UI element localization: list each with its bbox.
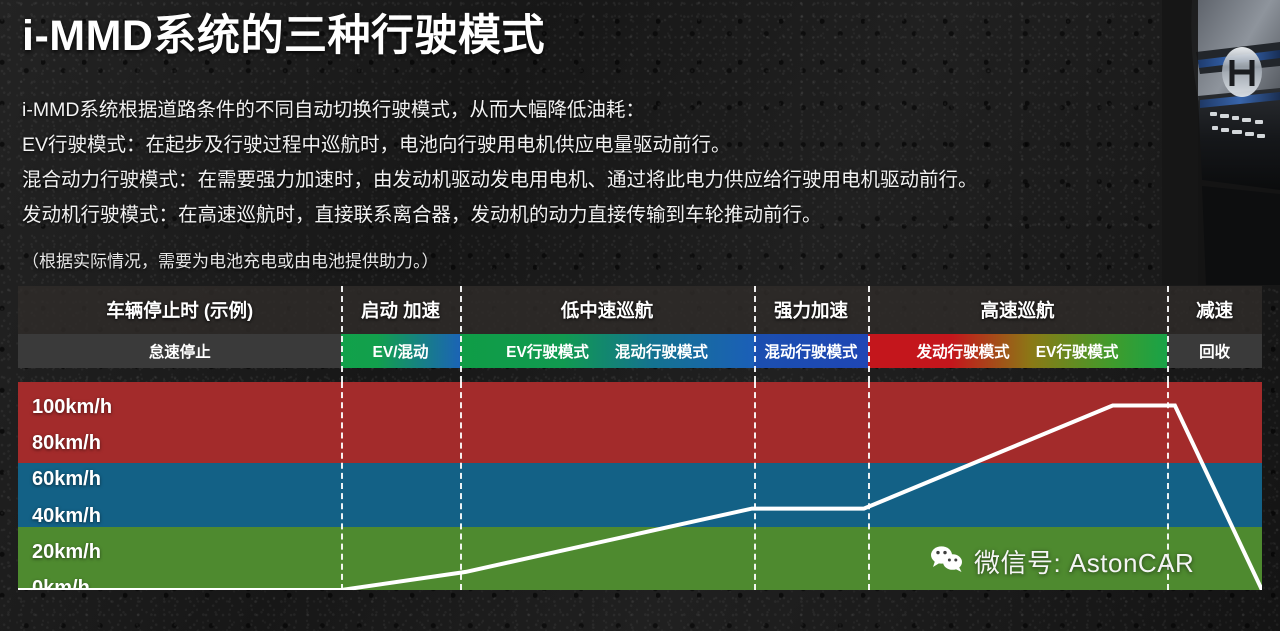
- high-speed-band: [18, 382, 1262, 463]
- mode-header-row: 怠速停止EV/混动EV行驶模式混动行驶模式混动行驶模式发动行驶模式EV行驶模式回…: [18, 334, 1262, 368]
- mode-cell-ev-and-hybrid-cruise: EV行驶模式混动行驶模式: [460, 334, 755, 368]
- plot-divider-0: [341, 382, 343, 590]
- intro-line-ev-mode: EV行驶模式：在起步及行驶过程中巡航时，电池向行驶用电机供应电量驱动前行。: [22, 128, 1172, 163]
- header-divider-2: [754, 286, 756, 382]
- phase-label: 高速巡航: [981, 297, 1055, 323]
- phase-cell-low-mid-cruise: 低中速巡航: [460, 286, 755, 334]
- phase-label: 低中速巡航: [561, 297, 654, 323]
- phase-cell-strong-accelerate: 强力加速: [754, 286, 867, 334]
- page-title: i-MMD系统的三种行驶模式: [22, 12, 545, 61]
- mode-label: 混动行驶模式: [765, 340, 858, 362]
- phase-cell-start-accelerate: 启动 加速: [341, 286, 459, 334]
- phase-header-row: 车辆停止时 (示例)启动 加速低中速巡航强力加速高速巡航减速: [18, 286, 1262, 334]
- intro-paragraphs: i-MMD系统根据道路条件的不同自动切换行驶模式，从而大幅降低油耗： EV行驶模…: [22, 93, 1172, 233]
- plot-divider-2: [754, 382, 756, 590]
- honda-accord-grille-illustration: [1162, 0, 1280, 285]
- header-divider-3: [868, 286, 870, 382]
- watermark-text: 微信号: AstonCAR: [974, 543, 1194, 580]
- wechat-icon-glyph: [930, 545, 964, 573]
- header-divider-0: [341, 286, 343, 382]
- y-tick-0: 0km/h: [32, 577, 90, 590]
- header-divider-1: [460, 286, 462, 382]
- wechat-watermark: 微信号: AstonCAR: [930, 543, 1194, 580]
- intro-footnote: （根据实际情况，需要为电池充电或由电池提供助力。）: [22, 249, 439, 275]
- intro-line-engine-mode: 发动机行驶模式：在高速巡航时，直接联系离合器，发动机的动力直接传输到车轮推动前行…: [22, 198, 1172, 233]
- plot-divider-3: [868, 382, 870, 590]
- y-tick-60: 60km/h: [32, 468, 101, 491]
- mode-label: 混动行驶模式: [615, 340, 708, 362]
- mode-label: EV/混动: [373, 340, 429, 362]
- mode-cell-regeneration: 回收: [1167, 334, 1262, 368]
- phase-label: 启动 加速: [361, 297, 440, 323]
- mode-label: 发动行驶模式: [917, 340, 1010, 362]
- intro-line-1: i-MMD系统根据道路条件的不同自动切换行驶模式，从而大幅降低油耗：: [22, 93, 1172, 128]
- phase-label: 减速: [1196, 297, 1233, 323]
- phase-label: 强力加速: [774, 297, 848, 323]
- mid-speed-band: [18, 463, 1262, 526]
- mode-cell-idle-stop: 怠速停止: [18, 334, 341, 368]
- mode-cell-ev-or-hybrid: EV/混动: [341, 334, 459, 368]
- car-photo: [1162, 0, 1280, 285]
- phase-cell-high-speed-cruise: 高速巡航: [868, 286, 1168, 334]
- y-tick-20: 20km/h: [32, 541, 101, 564]
- phase-label: 车辆停止时 (示例): [106, 297, 253, 323]
- mode-label: 回收: [1199, 340, 1230, 362]
- wechat-icon: [930, 545, 964, 578]
- y-tick-100: 100km/h: [32, 396, 112, 419]
- plot-divider-1: [460, 382, 462, 590]
- y-tick-80: 80km/h: [32, 432, 101, 455]
- mode-label: EV行驶模式: [1036, 340, 1119, 362]
- mode-cell-engine-then-ev: 发动行驶模式EV行驶模式: [868, 334, 1168, 368]
- header-divider-4: [1167, 286, 1169, 382]
- mode-label: 怠速停止: [149, 340, 211, 362]
- intro-line-hybrid-mode: 混合动力行驶模式：在需要强力加速时，由发动机驱动发电用电机、通过将此电力供应给行…: [22, 163, 1172, 198]
- mode-cell-hybrid-boost: 混动行驶模式: [754, 334, 867, 368]
- phase-cell-decelerate: 减速: [1167, 286, 1262, 334]
- mode-label: EV行驶模式: [506, 340, 589, 362]
- phase-cell-vehicle-stopped: 车辆停止时 (示例): [18, 286, 341, 334]
- y-tick-40: 40km/h: [32, 505, 101, 528]
